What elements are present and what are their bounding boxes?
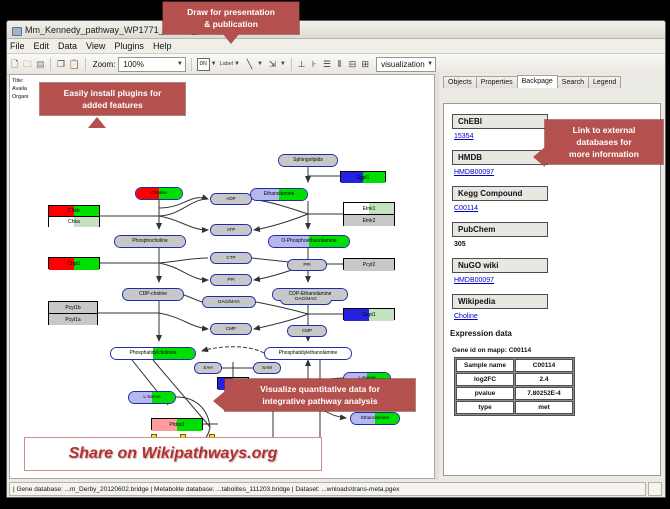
metabolite-node[interactable]: PPi — [287, 259, 327, 271]
node-label: Choline — [151, 191, 167, 196]
cell-type-value: met — [515, 401, 573, 414]
xref-kegg-header: Kegg Compound — [452, 186, 548, 201]
table-row: type met — [456, 401, 573, 414]
align-top-icon[interactable]: ⊥ — [297, 58, 307, 71]
metabolite-node[interactable]: ATP — [210, 224, 252, 236]
stack-vertical-icon[interactable]: ☰ — [322, 58, 332, 71]
table-row: Sample name C00114 — [456, 359, 573, 372]
datanode-icon: DN — [197, 58, 210, 71]
line-tool-icon: ╲ — [243, 58, 256, 71]
statusbar-text: | Gene database: ...m_Derby_20120602.bri… — [9, 482, 646, 496]
callout-visualize-line1: Visualize quantitative data for — [260, 384, 380, 394]
cell-sample-name-value: C00114 — [515, 359, 573, 372]
node-label: CMP — [302, 329, 312, 334]
xref-pubchem: PubChem 305 — [452, 219, 660, 248]
xref-wikipedia: Wikipedia Choline — [452, 291, 660, 320]
gene-row: Pcyt1b — [49, 302, 97, 313]
callout-plugins-line2: added features — [82, 100, 142, 110]
metabolite-node[interactable]: CTP — [210, 252, 252, 264]
menu-help[interactable]: Help — [153, 41, 172, 51]
node-label: Phosphocholine — [132, 239, 168, 244]
node-label: Sphingolipids — [293, 158, 323, 163]
distribute-horizontal-icon[interactable]: ⦀ — [335, 58, 345, 71]
datanode-tool[interactable]: DN ▼ — [197, 58, 217, 71]
toolbar-separator — [50, 58, 51, 71]
metabolite-node[interactable]: Phosphatidylcholines — [110, 347, 196, 360]
node-label: Ptdss1 — [169, 422, 184, 428]
pathway-info-title: Title: — [12, 77, 29, 85]
metabolite-node[interactable]: CMP — [210, 323, 252, 335]
gene-row: Chkb — [49, 206, 99, 216]
node-label: SAM — [262, 366, 272, 371]
gene-product-node[interactable]: Pcyt2 — [343, 258, 395, 270]
gene-product-node[interactable]: Ptdss1 — [151, 418, 203, 430]
node-label: Phosphatidylcholines — [130, 351, 177, 356]
callout-draw-line1: Draw for presentation — [187, 7, 275, 17]
node-label: PPi — [303, 263, 310, 268]
callout-links-arrow — [533, 147, 545, 167]
pathway-info-avail: Availa — [12, 85, 29, 93]
gene-id-on-mapp: Gene id on mapp: C00114 — [452, 347, 660, 354]
menu-data[interactable]: Data — [58, 41, 77, 51]
window-titlebar: Mm_Kennedy_pathway_WP1771_45176.gpml — [7, 21, 665, 39]
node-label: DAG/MAG — [295, 297, 317, 302]
callout-links: Link to external databases for more info… — [545, 120, 663, 164]
metabolite-node[interactable]: SAM — [253, 362, 281, 374]
node-label: Chkb — [68, 208, 80, 214]
statusbar-indicator — [648, 482, 662, 496]
gene-product-node[interactable]: Sgpl1 — [340, 171, 386, 182]
chevron-down-icon: ▼ — [211, 61, 217, 67]
table-row: pvalue 7.80252E-4 — [456, 387, 573, 400]
share-banner: Share on Wikipathways.org — [24, 437, 322, 471]
expression-data-table: Sample name C00114 log2FC 2.4 pvalue 7.8… — [454, 357, 575, 416]
callout-draw-line2: & publication — [204, 19, 258, 29]
node-label: CTP — [226, 256, 235, 261]
node-label: SAH — [203, 366, 212, 371]
xref-chebi-header: ChEBI — [452, 114, 548, 129]
gene-row: Ptdss1 — [152, 419, 202, 431]
node-label: Chka — [68, 219, 80, 225]
callout-draw: Draw for presentation & publication — [163, 2, 299, 34]
menubar: File Edit Data View Plugins Help — [7, 39, 665, 54]
pathway-info-organism: Organi — [12, 93, 29, 101]
new-document-icon[interactable]: 🗋 — [10, 58, 20, 71]
common-width-icon[interactable]: ⊟ — [348, 58, 358, 71]
interaction-tool[interactable]: ⇲ ▼ — [266, 58, 286, 71]
node-label: DAG/MAG — [218, 300, 240, 305]
gene-product-node[interactable]: Pcyt1bPcyt1a — [48, 301, 98, 325]
callout-draw-arrow — [222, 33, 240, 44]
toolbar-separator — [191, 58, 192, 71]
line-tool[interactable]: ╲ ▼ — [243, 58, 263, 71]
node-label: ATP — [227, 228, 236, 233]
metabolite-node[interactable]: Phosphatidylethanolamine — [264, 347, 352, 360]
node-label: CDP-choline — [139, 292, 167, 297]
zoom-value: 100% — [121, 60, 143, 69]
zoom-combobox[interactable]: 100% ▼ — [118, 57, 185, 72]
statusbar: | Gene database: ...m_Derby_20120602.bri… — [7, 481, 665, 497]
cell-pvalue-label: pvalue — [456, 387, 514, 400]
metabolite-node[interactable]: Ethanolamine — [350, 412, 400, 425]
node-label: ADP — [226, 197, 235, 202]
node-label: Pcyt1a — [65, 317, 80, 323]
gene-row: Etnk2 — [344, 214, 394, 225]
callout-plugins-line1: Easily install plugins for — [64, 88, 162, 98]
cell-type-label: type — [456, 401, 514, 414]
label-tool[interactable]: Label ▼ — [220, 61, 240, 67]
metabolite-node[interactable]: L-Serine — [128, 391, 176, 404]
metabolite-node[interactable]: O-Phosphoethanolamine — [268, 235, 350, 248]
chevron-down-icon: ▼ — [280, 61, 286, 67]
chevron-down-icon: ▼ — [234, 61, 240, 67]
xref-kegg-link[interactable]: C00114 — [454, 205, 660, 212]
gene-row: Chka — [49, 216, 99, 226]
metabolite-node[interactable]: CDP-choline — [122, 288, 184, 301]
metabolite-node[interactable]: SAH — [194, 362, 222, 374]
callout-links-line2: databases for — [576, 137, 631, 147]
xref-hmdb-link[interactable]: HMDB00097 — [454, 169, 660, 176]
menu-edit[interactable]: Edit — [34, 41, 50, 51]
node-label: Sgpl1 — [357, 175, 370, 181]
node-label: O-Phosphoethanolamine — [281, 239, 336, 244]
node-label: CMP — [226, 327, 236, 332]
metabolite-node[interactable]: Choline — [135, 187, 183, 200]
node-label: Ethanolamine — [361, 416, 389, 421]
screenshot-root: Mm_Kennedy_pathway_WP1771_45176.gpml Fil… — [0, 0, 670, 509]
interaction-tool-icon: ⇲ — [266, 58, 279, 71]
node-label: Etnk1 — [363, 206, 376, 212]
tab-search[interactable]: Search — [557, 76, 589, 88]
node-label: Chpt1 — [67, 261, 80, 267]
metabolite-node[interactable]: PPi — [210, 274, 252, 286]
node-label: L-Serine — [143, 395, 160, 400]
align-left-icon[interactable]: ⊦ — [309, 58, 319, 71]
node-label: Ethanolamine — [264, 192, 295, 197]
menu-file[interactable]: File — [10, 41, 25, 51]
tab-backpage[interactable]: Backpage — [517, 75, 558, 88]
tab-legend[interactable]: Legend — [588, 76, 621, 88]
pathway-canvas[interactable]: Title: Availa Organi — [9, 74, 435, 479]
xref-kegg: Kegg Compound C00114 — [452, 183, 660, 212]
gene-row: Chpt1 — [49, 258, 99, 270]
expression-data-heading: Expression data — [450, 329, 660, 338]
common-height-icon[interactable]: ⊞ — [360, 58, 370, 71]
copy-icon[interactable]: ❐ — [56, 58, 66, 71]
metabolite-node[interactable]: Phosphocholine — [114, 235, 186, 248]
xref-nugo: NuGO wiki HMDB00097 — [452, 255, 660, 284]
xref-wikipedia-link[interactable]: Choline — [454, 313, 660, 320]
chevron-down-icon: ▼ — [177, 61, 183, 67]
node-label: Pcyt1b — [65, 305, 80, 311]
visualization-value: visualization — [379, 60, 425, 69]
callout-links-line1: Link to external — [573, 125, 636, 135]
node-label: Phosphatidylethanolamine — [279, 351, 338, 356]
label-menu-text: Label — [220, 61, 233, 67]
xref-nugo-header: NuGO wiki — [452, 258, 548, 273]
callout-visualize-arrow — [213, 391, 225, 411]
xref-nugo-link[interactable]: HMDB00097 — [454, 277, 660, 284]
gene-product-node[interactable]: ChkbChka — [48, 205, 100, 227]
tab-objects[interactable]: Objects — [443, 76, 477, 88]
pathvisio-icon — [11, 25, 21, 35]
cell-sample-name-label: Sample name — [456, 359, 514, 372]
gene-row: Pcyt1a — [49, 313, 97, 324]
metabolite-node[interactable]: CMP — [287, 325, 327, 337]
table-row: log2FC 2.4 — [456, 373, 573, 386]
gene-product-node[interactable]: Cept1 — [343, 308, 395, 320]
metabolite-node[interactable]: ADP — [210, 193, 252, 205]
callout-visualize-line2: integrative pathway analysis — [262, 396, 377, 406]
paste-icon[interactable]: 📋 — [69, 58, 80, 71]
tab-properties[interactable]: Properties — [476, 76, 518, 88]
gene-product-node[interactable]: Etnk1Etnk2 — [343, 202, 395, 226]
chevron-down-icon: ▼ — [427, 61, 433, 67]
toolbar-separator — [85, 58, 86, 71]
cell-log2fc-value: 2.4 — [515, 373, 573, 386]
callout-links-line3: more information — [569, 149, 639, 159]
menu-view[interactable]: View — [86, 41, 105, 51]
pathvisio-window: Mm_Kennedy_pathway_WP1771_45176.gpml Fil… — [6, 20, 666, 498]
cell-pvalue-value: 7.80252E-4 — [515, 387, 573, 400]
xref-pubchem-value: 305 — [454, 241, 660, 248]
save-disk-icon[interactable]: ▤ — [36, 58, 46, 71]
side-panel-tabs: Objects Properties Backpage Search Legen… — [443, 75, 665, 88]
toolbar: 🗋 🗀 ▤ ❐ 📋 Zoom: 100% ▼ DN ▼ Label ▼ ╲ — [7, 54, 665, 75]
zoom-label: Zoom: — [93, 60, 116, 69]
node-label: Etnk2 — [363, 218, 376, 224]
callout-plugins: Easily install plugins for added feature… — [40, 83, 185, 115]
gene-row: Sgpl1 — [341, 172, 385, 183]
node-label: Cept1 — [362, 312, 375, 318]
chevron-down-icon: ▼ — [257, 61, 263, 67]
node-label: PPi — [227, 278, 234, 283]
gene-row: Cept1 — [344, 309, 394, 321]
xref-pubchem-header: PubChem — [452, 222, 548, 237]
metabolite-node[interactable]: Sphingolipids — [278, 154, 338, 167]
callout-visualize: Visualize quantitative data for integrat… — [225, 379, 415, 411]
toolbar-separator — [291, 58, 292, 71]
metabolite-node[interactable]: Ethanolamine — [250, 188, 308, 201]
share-banner-text: Share on Wikipathways.org — [69, 445, 278, 463]
visualization-combobox[interactable]: visualization ▼ — [376, 57, 436, 72]
pathway-info: Title: Availa Organi — [12, 77, 29, 101]
open-folder-icon[interactable]: 🗀 — [23, 58, 33, 71]
gene-row: Pcyt2 — [344, 259, 394, 271]
node-label: Pcyt2 — [363, 262, 376, 268]
cell-log2fc-label: log2FC — [456, 373, 514, 386]
callout-plugins-arrow — [88, 117, 106, 128]
gene-product-node[interactable]: Chpt1 — [48, 257, 100, 269]
menu-plugins[interactable]: Plugins — [114, 41, 144, 51]
xref-wikipedia-header: Wikipedia — [452, 294, 548, 309]
gene-row: Etnk1 — [344, 203, 394, 214]
metabolite-node[interactable]: DAG/MAG — [202, 296, 256, 308]
